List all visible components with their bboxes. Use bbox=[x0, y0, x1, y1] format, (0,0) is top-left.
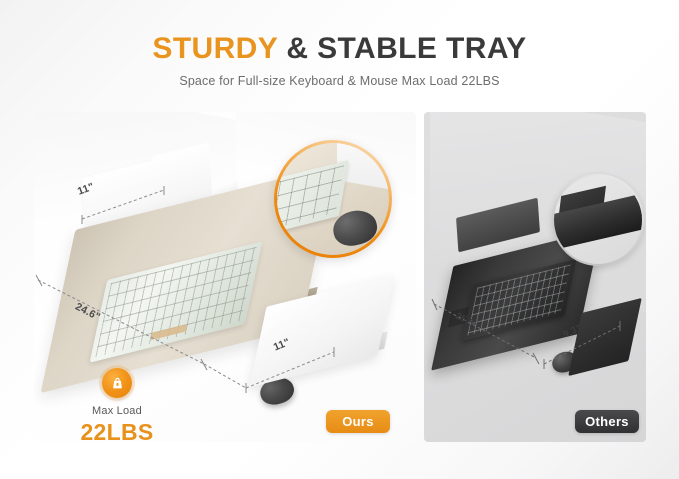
zoom-inset-others-content bbox=[554, 176, 642, 264]
title-rest: & STABLE TRAY bbox=[278, 32, 527, 65]
title-accent: STURDY bbox=[152, 32, 277, 65]
max-load-value: 22LBS bbox=[62, 419, 172, 446]
badge-others: Others bbox=[575, 410, 639, 433]
max-load-block: Max Load 22LBS bbox=[62, 368, 172, 446]
product-comparison-image: STURDY & STABLE TRAY Space for Full-size… bbox=[0, 0, 679, 479]
others-tray-backstop bbox=[456, 198, 540, 253]
page-title: STURDY & STABLE TRAY bbox=[0, 32, 679, 65]
others-tray-assembly bbox=[424, 112, 646, 442]
weight-icon bbox=[109, 375, 126, 392]
zoom-inset-ours bbox=[274, 140, 392, 258]
weight-icon-circle bbox=[102, 368, 132, 398]
zoom-inset-ours-content bbox=[277, 143, 389, 255]
max-load-label: Max Load bbox=[62, 405, 172, 417]
badge-ours: Ours bbox=[326, 410, 390, 433]
panel-others: 25.3" 9.3" bbox=[424, 112, 646, 442]
page-subtitle: Space for Full-size Keyboard & Mouse Max… bbox=[0, 74, 679, 88]
zoom-inset-others bbox=[552, 174, 644, 266]
header: STURDY & STABLE TRAY Space for Full-size… bbox=[0, 32, 679, 88]
